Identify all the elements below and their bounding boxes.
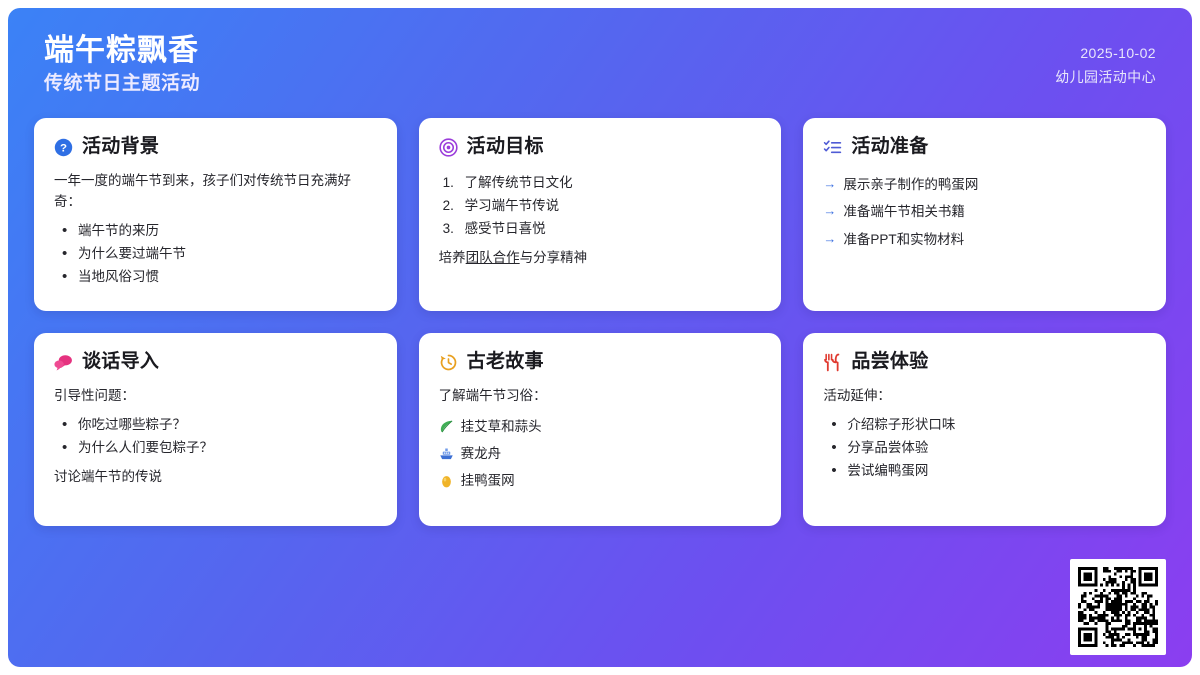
card-activity-goals[interactable]: 活动目标 了解传统节日文化 学习端午节传说 感受节日喜悦 培养团队合作与分享精神: [419, 118, 782, 311]
card-body: 了解端午节习俗： 挂艾草和蒜头: [439, 386, 762, 494]
list-item: 了解传统节日文化: [443, 171, 762, 194]
list-item: 当地风俗习惯: [60, 265, 377, 288]
card-list: 挂艾草和蒜头: [439, 413, 762, 494]
list-item-label: 挂艾草和蒜头: [461, 413, 542, 440]
boat-icon: [439, 446, 454, 461]
card-list: 介绍粽子形状口味 分享品尝体验 尝试编鸭蛋网: [829, 413, 1146, 483]
header-meta: 2025-10-02 幼儿园活动中心: [1055, 34, 1156, 86]
slide-header: 端午粽飘香 传统节日主题活动 2025-10-02 幼儿园活动中心: [8, 8, 1192, 95]
card-header: 谈话导入: [54, 352, 377, 373]
qr-code[interactable]: [1070, 559, 1166, 655]
list-item: 端午节的来历: [60, 219, 377, 242]
card-tasting-experience[interactable]: 品尝体验 活动延伸： 介绍粽子形状口味 分享品尝体验 尝试编鸭蛋网: [803, 333, 1166, 526]
checklist-icon: [823, 138, 842, 157]
list-item: 介绍粽子形状口味: [829, 413, 1146, 436]
card-tail-text: 讨论端午节的传说: [54, 467, 377, 488]
card-header: 活动准备: [823, 137, 1146, 158]
leaf-icon: [439, 419, 454, 434]
list-item: 学习端午节传说: [443, 194, 762, 217]
list-item: 为什么要过端午节: [60, 242, 377, 265]
page-subtitle: 传统节日主题活动: [44, 74, 200, 95]
page-title: 端午粽飘香: [44, 34, 200, 67]
card-header: 活动目标: [439, 137, 762, 158]
list-item: 展示亲子制作的鸭蛋网: [823, 171, 1146, 199]
card-header: 古老故事: [439, 352, 762, 373]
card-body: 展示亲子制作的鸭蛋网 准备端午节相关书籍 准备PPT和实物材料: [823, 171, 1146, 254]
fork-knife-icon: [823, 353, 842, 372]
slide-root: 端午粽飘香 传统节日主题活动 2025-10-02 幼儿园活动中心 ?: [0, 0, 1200, 675]
header-titles: 端午粽飘香 传统节日主题活动: [44, 34, 200, 95]
card-list: 你吃过哪些粽子？ 为什么人们要包粽子？: [60, 413, 377, 459]
list-item: 准备端午节相关书籍: [823, 198, 1146, 226]
egg-icon: [439, 473, 454, 488]
card-list: 了解传统节日文化 学习端午节传说 感受节日喜悦: [443, 171, 762, 241]
list-item: 尝试编鸭蛋网: [829, 459, 1146, 482]
tail-emphasis: 团队合作: [466, 250, 520, 265]
card-ancient-story[interactable]: 古老故事 了解端午节习俗： 挂艾草和蒜头: [419, 333, 782, 526]
card-activity-background[interactable]: ? 活动背景 一年一度的端午节到来，孩子们对传统节日充满好奇： 端午节的来历 为…: [34, 118, 397, 311]
card-header: ? 活动背景: [54, 137, 377, 158]
card-title: 活动目标: [467, 137, 544, 158]
speech-bubbles-icon: [54, 353, 73, 372]
slide-canvas: 端午粽飘香 传统节日主题活动 2025-10-02 幼儿园活动中心 ?: [8, 8, 1192, 667]
card-lead-text: 引导性问题：: [54, 386, 377, 407]
card-lead-text: 活动延伸：: [823, 386, 1146, 407]
list-item-label: 赛龙舟: [461, 440, 502, 467]
list-item: 为什么人们要包粽子？: [60, 436, 377, 459]
card-body: 引导性问题： 你吃过哪些粽子？ 为什么人们要包粽子？ 讨论端午节的传说: [54, 386, 377, 488]
list-item: 分享品尝体验: [829, 436, 1146, 459]
card-title: 活动准备: [851, 137, 928, 158]
card-body: 活动延伸： 介绍粽子形状口味 分享品尝体验 尝试编鸭蛋网: [823, 386, 1146, 483]
card-title: 活动背景: [82, 137, 159, 158]
card-list: 端午节的来历 为什么要过端午节 当地风俗习惯: [60, 219, 377, 289]
card-body: 一年一度的端午节到来，孩子们对传统节日充满好奇： 端午节的来历 为什么要过端午节…: [54, 171, 377, 289]
list-item: 感受节日喜悦: [443, 217, 762, 240]
list-item: 挂鸭蛋网: [439, 467, 762, 494]
card-activity-preparation[interactable]: 活动准备 展示亲子制作的鸭蛋网 准备端午节相关书籍 准备PPT和实物材料: [803, 118, 1166, 311]
card-grid: ? 活动背景 一年一度的端午节到来，孩子们对传统节日充满好奇： 端午节的来历 为…: [8, 95, 1192, 526]
list-item-label: 挂鸭蛋网: [461, 467, 515, 494]
card-talk-introduction[interactable]: 谈话导入 引导性问题： 你吃过哪些粽子？ 为什么人们要包粽子？ 讨论端午节的传说: [34, 333, 397, 526]
svg-text:?: ?: [60, 142, 67, 154]
list-item: 赛龙舟: [439, 440, 762, 467]
target-icon: [439, 138, 458, 157]
question-circle-icon: ?: [54, 138, 73, 157]
card-title: 谈话导入: [82, 352, 159, 373]
header-location: 幼儿园活动中心: [1055, 68, 1156, 86]
list-item: 挂艾草和蒜头: [439, 413, 762, 440]
card-title: 品尝体验: [851, 352, 928, 373]
card-list: 展示亲子制作的鸭蛋网 准备端午节相关书籍 准备PPT和实物材料: [823, 171, 1146, 254]
list-item: 你吃过哪些粽子？: [60, 413, 377, 436]
card-header: 品尝体验: [823, 352, 1146, 373]
tail-suffix: 与分享精神: [520, 250, 588, 265]
card-lead-text: 了解端午节习俗：: [439, 386, 762, 407]
list-item: 准备PPT和实物材料: [823, 226, 1146, 254]
card-body: 了解传统节日文化 学习端午节传说 感受节日喜悦 培养团队合作与分享精神: [439, 171, 762, 270]
header-date: 2025-10-02: [1080, 44, 1156, 62]
card-title: 古老故事: [467, 352, 544, 373]
card-tail-text: 培养团队合作与分享精神: [439, 248, 762, 269]
qr-code-image: [1078, 567, 1158, 647]
history-icon: [439, 353, 458, 372]
card-lead-text: 一年一度的端午节到来，孩子们对传统节日充满好奇：: [54, 171, 377, 213]
tail-prefix: 培养: [439, 250, 466, 265]
